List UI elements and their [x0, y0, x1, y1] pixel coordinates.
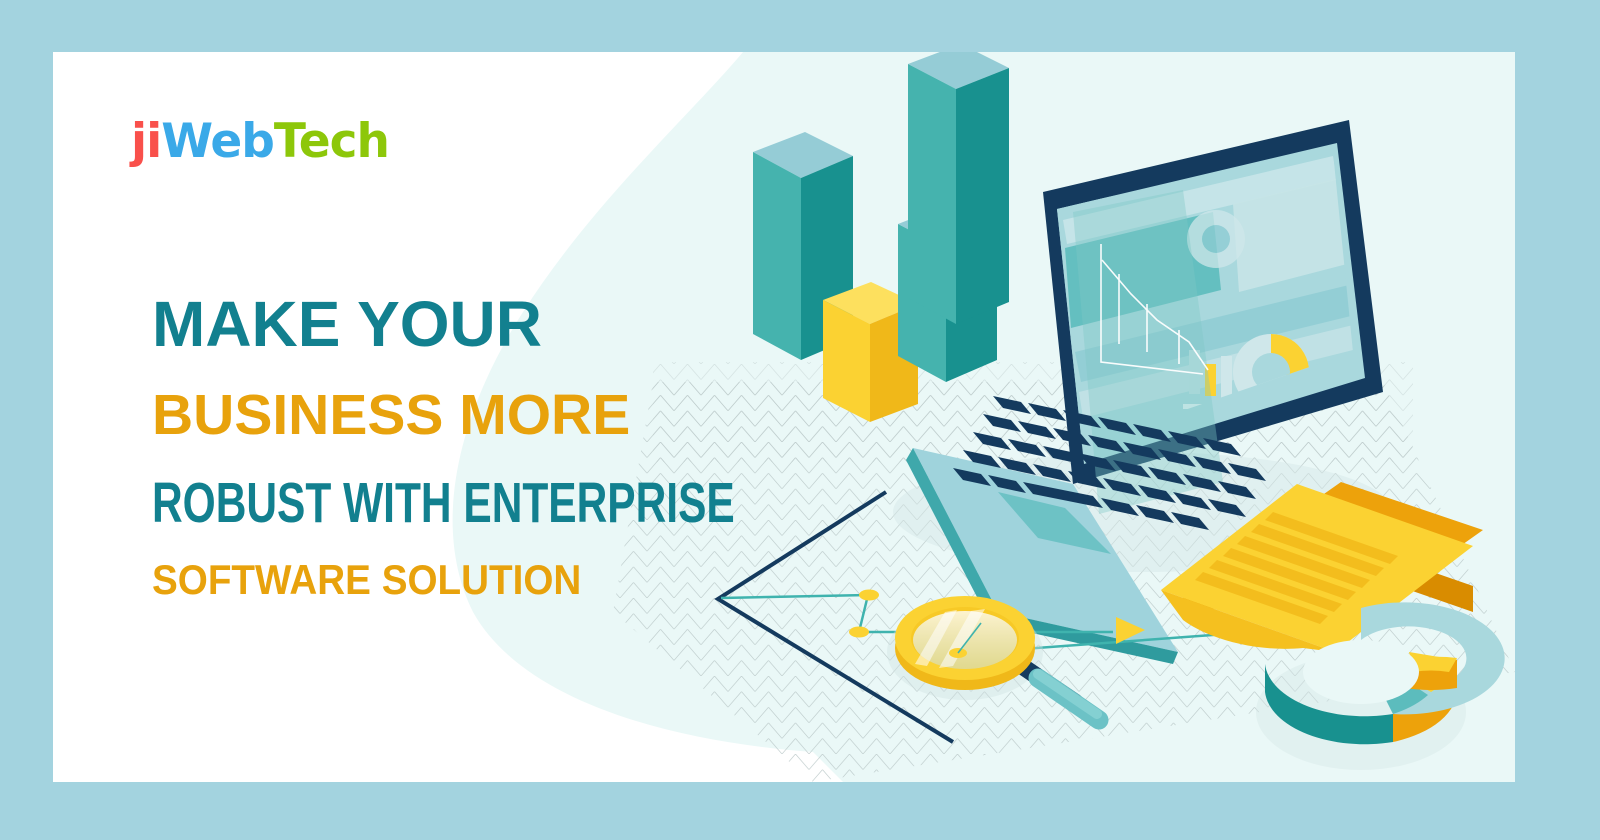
headline-line-2: BUSINESS MORE — [152, 387, 792, 444]
bar-4 — [908, 52, 1009, 324]
headline-line-1: MAKE YOUR — [152, 292, 792, 356]
logo-part-web: Web — [161, 118, 274, 165]
headline-line-4: SOFTWARE SOLUTION — [152, 559, 741, 601]
headline-line-3: ROBUST WITH ENTERPRISE — [152, 475, 629, 532]
logo[interactable]: jiWebTech — [131, 118, 389, 165]
screen-donut-1 — [1187, 210, 1245, 268]
banner: jiWebTech MAKE YOUR BUSINESS MORE ROBUST… — [0, 0, 1600, 840]
inner-panel: jiWebTech MAKE YOUR BUSINESS MORE ROBUST… — [53, 52, 1515, 782]
logo-part-tech: Tech — [274, 118, 389, 165]
logo-part-ji: ji — [131, 118, 161, 165]
headline: MAKE YOUR BUSINESS MORE ROBUST WITH ENTE… — [152, 292, 792, 601]
